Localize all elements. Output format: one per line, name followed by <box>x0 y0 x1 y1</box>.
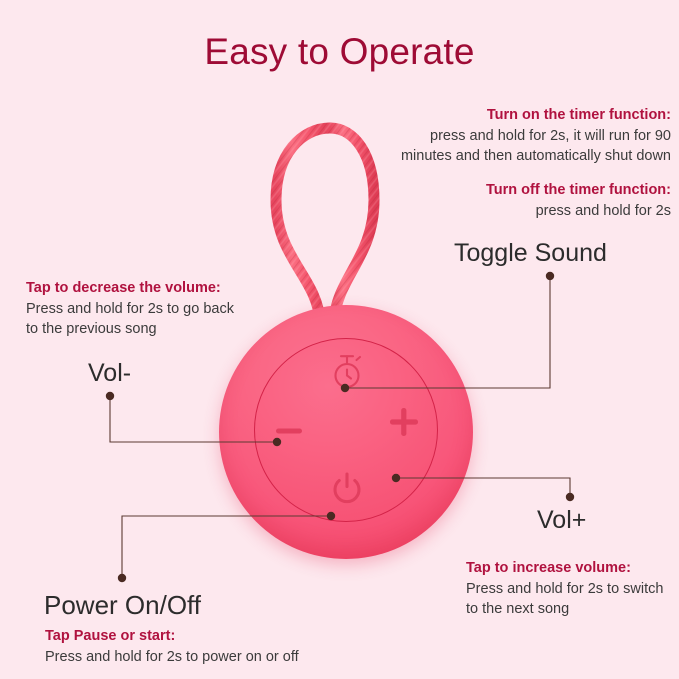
speaker-device <box>214 108 476 578</box>
callout-volume-down-heading: Tap to decrease the volume: <box>26 278 276 299</box>
callout-volume-up-line1: Press and hold for 2s to switch <box>466 579 679 600</box>
callout-power-heading: Tap Pause or start: <box>45 626 345 647</box>
callout-timer-on-heading: Turn on the timer function: <box>399 105 671 126</box>
leader-dot-volume-down <box>106 392 114 400</box>
callout-timer-off-heading: Turn off the timer function: <box>399 180 671 201</box>
minus-icon[interactable] <box>273 416 305 446</box>
callout-timer-off-line1: press and hold for 2s <box>399 201 671 222</box>
callout-volume-up-line2: to the next song <box>466 599 679 620</box>
callout-power-line1: Press and hold for 2s to power on or off <box>45 647 345 668</box>
callout-timer-on: Turn on the timer function: press and ho… <box>399 105 671 167</box>
speaker-control-panel <box>254 338 438 522</box>
label-toggle-sound: Toggle Sound <box>454 241 607 266</box>
callout-timer-on-line2: minutes and then automatically shut down <box>399 146 671 167</box>
leader-dot-toggle-sound <box>546 272 554 280</box>
page-title: Easy to Operate <box>0 31 679 74</box>
callout-volume-up-heading: Tap to increase volume: <box>466 558 679 579</box>
callout-timer-off: Turn off the timer function: press and h… <box>399 180 671 221</box>
label-power: Power On/Off <box>44 592 201 618</box>
callout-timer-on-line1: press and hold for 2s, it will run for 9… <box>399 126 671 147</box>
label-volume-up: Vol+ <box>537 508 586 533</box>
stopwatch-icon[interactable] <box>329 352 365 390</box>
infographic-canvas: Easy to Operate <box>0 0 679 679</box>
callout-volume-down: Tap to decrease the volume: Press and ho… <box>26 278 276 340</box>
speaker-body <box>219 305 473 559</box>
callout-volume-down-line1: Press and hold for 2s to go back <box>26 299 276 320</box>
power-icon[interactable] <box>329 470 365 506</box>
callout-power: Tap Pause or start: Press and hold for 2… <box>45 626 345 667</box>
plus-icon[interactable] <box>387 405 421 439</box>
callout-volume-up: Tap to increase volume: Press and hold f… <box>466 558 679 620</box>
leader-dot-power <box>118 574 126 582</box>
callout-volume-down-line2: to the previous song <box>26 319 276 340</box>
label-volume-down: Vol- <box>88 361 131 386</box>
leader-dot-volume-up <box>566 493 574 501</box>
